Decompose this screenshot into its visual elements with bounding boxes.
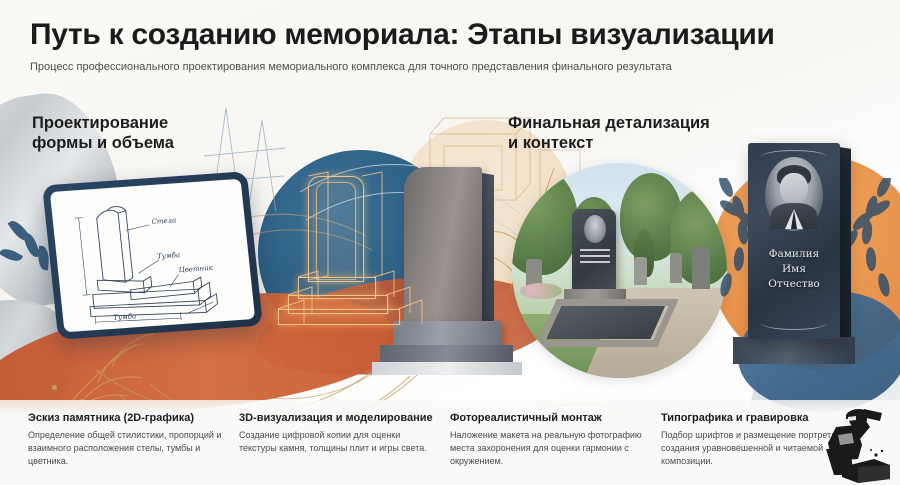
wireframe-perspective-lines [272, 170, 442, 350]
montage-monument-portrait [584, 215, 606, 243]
stage-heading-final-line1: Финальная детализация [508, 113, 710, 133]
page-title: Путь к созданию мемориала: Этапы визуали… [30, 18, 870, 51]
header: Путь к созданию мемориала: Этапы визуали… [0, 0, 900, 74]
caption-bar: Эскиз памятника (2D-графика) Определение… [0, 400, 900, 485]
memorial-plaque: Фамилия Имя Отчество [748, 143, 840, 339]
montage-monument-name [580, 249, 610, 267]
engraved-portrait [765, 157, 823, 231]
granite-plinth [372, 362, 522, 375]
caption-montage: Фотореалистичный монтаж Наложение макета… [450, 412, 661, 485]
monument-sketch-drawing [50, 179, 255, 333]
portrait-face [780, 173, 808, 205]
stage-heading-design-line1: Проектирование [32, 113, 174, 133]
granite-stele-side [482, 173, 494, 328]
distant-headstone [634, 257, 647, 285]
distant-headstone [670, 253, 682, 283]
tablet-screen: Стела Тумба Цветник Тумба [50, 179, 255, 333]
plaque-surname: Фамилия [748, 247, 840, 262]
caption-3d-title: 3D-визуализация и моделирование [239, 412, 436, 425]
stonemason-engraving-icon [812, 405, 894, 483]
gold-dot-decor [52, 385, 57, 390]
stage-heading-design: Проектирование формы и объема [32, 113, 174, 153]
sketch-label-tumba: Тумба [157, 251, 181, 261]
caption-montage-title: Фотореалистичный монтаж [450, 412, 647, 425]
caption-sketch-title: Эскиз памятника (2D-графика) [28, 412, 225, 425]
caption-3d-body: Создание цифровой копии для оценки текст… [239, 429, 436, 455]
plaque-side-face [840, 147, 851, 340]
ornament-bottom-icon [761, 316, 827, 330]
montage-monument-border [535, 299, 678, 347]
sketch-label-base-tumba: Тумба [113, 312, 137, 322]
plaque-inscription: Фамилия Имя Отчество [748, 247, 840, 292]
infographic-canvas: Путь к созданию мемориала: Этапы визуали… [0, 0, 900, 485]
photo-flowers [520, 283, 562, 299]
page-subtitle: Процесс профессионального проектирования… [30, 60, 870, 74]
plaque-firstname: Имя [748, 262, 840, 277]
cemetery-photo-montage [512, 163, 727, 378]
stage-heading-final-line2: и контекст [508, 133, 710, 153]
caption-sketch-body: Определение общей стилистики, пропорций … [28, 429, 225, 468]
caption-3d: 3D-визуализация и моделирование Создание… [239, 412, 450, 485]
stage-heading-design-line2: формы и объема [32, 133, 174, 153]
plaque-pedestal [733, 337, 855, 364]
plaque-patronymic: Отчество [748, 277, 840, 292]
stage-heading-final: Финальная детализация и контекст [508, 113, 710, 153]
caption-sketch: Эскиз памятника (2D-графика) Определение… [28, 412, 239, 485]
portrait-tie [791, 210, 797, 229]
tablet-device: Стела Тумба Цветник Тумба [42, 171, 263, 339]
caption-montage-body: Наложение макета на реальную фотографию … [450, 429, 647, 468]
